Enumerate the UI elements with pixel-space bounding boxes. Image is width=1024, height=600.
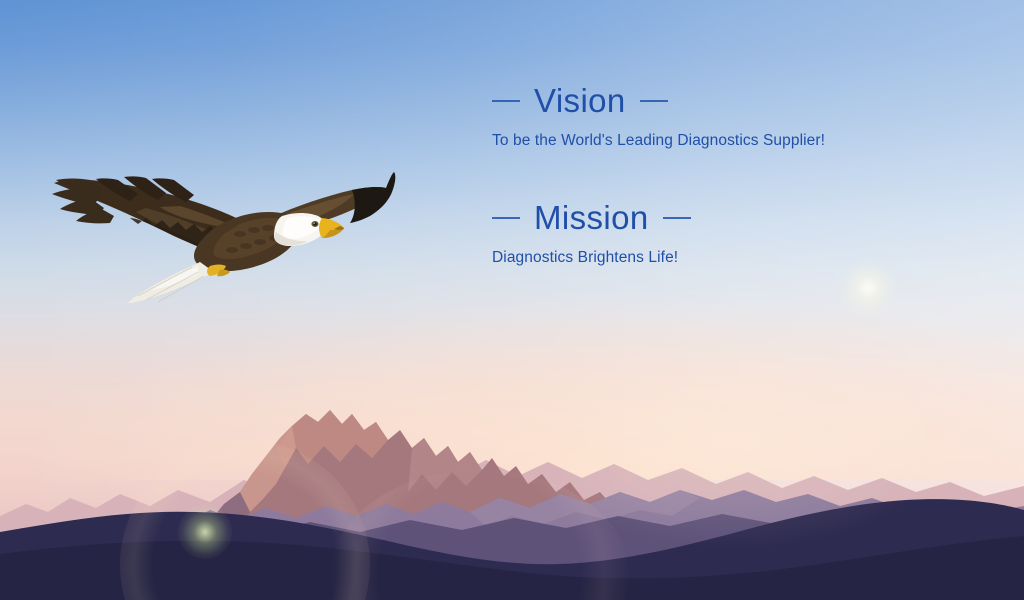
vision-block: Vision To be the World's Leading Diagnos…	[492, 84, 922, 151]
dash-right-icon	[663, 217, 691, 219]
hero-banner: Vision To be the World's Leading Diagnos…	[0, 0, 1024, 600]
mountain-layer-foreground	[0, 480, 1024, 600]
vision-heading-row: Vision	[492, 84, 922, 117]
vision-heading: Vision	[534, 84, 626, 117]
mission-heading: Mission	[534, 201, 649, 234]
dash-right-icon	[640, 100, 668, 102]
mission-heading-row: Mission	[492, 201, 922, 234]
bald-eagle-image	[34, 166, 400, 316]
mission-subtitle: Diagnostics Brightens Life!	[492, 248, 922, 268]
dash-left-icon	[492, 217, 520, 219]
text-panel: Vision To be the World's Leading Diagnos…	[492, 84, 922, 268]
mission-block: Mission Diagnostics Brightens Life!	[492, 201, 922, 268]
vision-subtitle: To be the World's Leading Diagnostics Su…	[492, 131, 922, 151]
dash-left-icon	[492, 100, 520, 102]
